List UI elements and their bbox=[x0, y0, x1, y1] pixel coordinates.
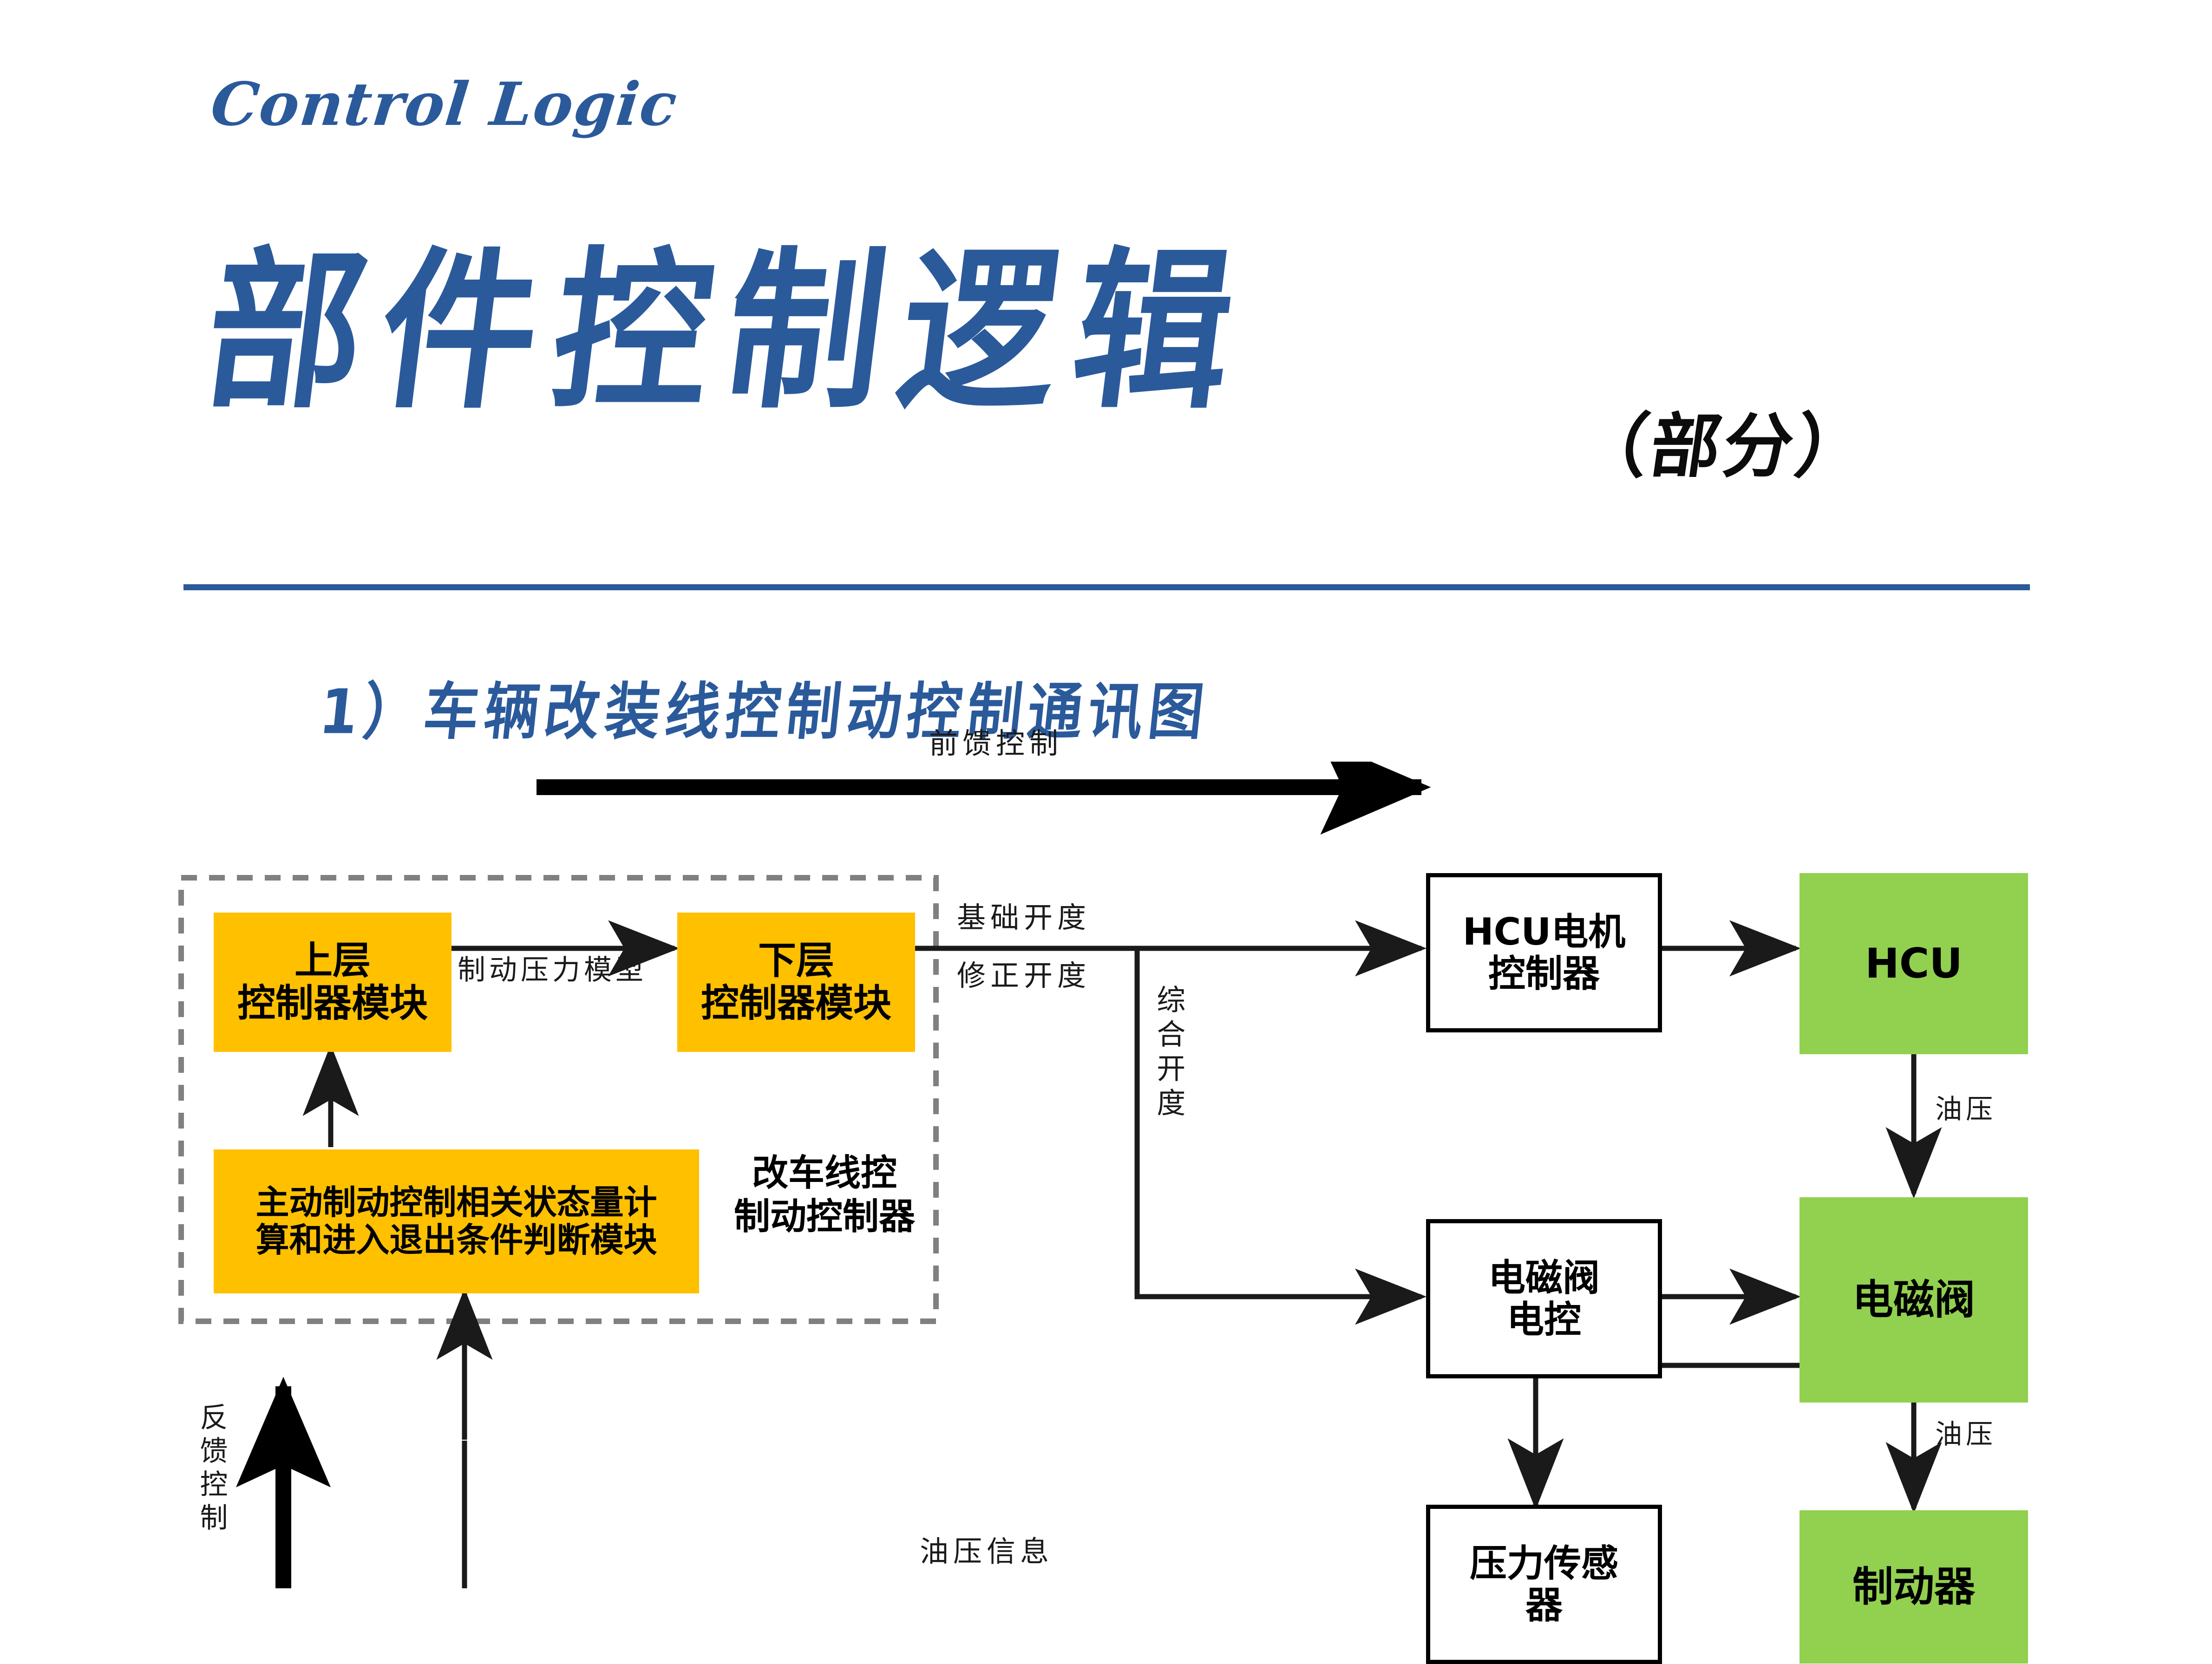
node-label-line2: 控制器模块 bbox=[237, 982, 428, 1025]
node-label-line1: 下层 bbox=[701, 940, 891, 982]
edge-label-feedforward: 前馈控制 bbox=[929, 727, 1063, 760]
edge-label-combined-opening: 综合开度 bbox=[1152, 985, 1185, 1122]
node-label-line1: 电磁阀 bbox=[1852, 1277, 1975, 1323]
control-architecture-diagram: 上层 控制器模块 下层 控制器模块 主动制动控制相关状态量计 算和进入退出条件判… bbox=[0, 762, 2212, 1588]
node-label-line2: 算和进入退出条件判断模块 bbox=[255, 1221, 657, 1259]
section-heading: 1）车辆改装线控制动控制通讯图 bbox=[316, 662, 1214, 751]
node-lower-controller[interactable]: 下层 控制器模块 bbox=[677, 913, 915, 1052]
slide-canvas: Control Logic 部件控制逻辑 （部分） 1）车辆改装线控制动控制通讯… bbox=[0, 0, 2212, 1624]
control-logic-eyebrow: Control Logic bbox=[208, 70, 681, 139]
group-label-line2: 制动控制器 bbox=[715, 1195, 934, 1239]
page-title: 部件控制逻辑 bbox=[197, 246, 1259, 418]
page-title-suffix: （部分） bbox=[1572, 390, 1877, 491]
title-divider bbox=[183, 584, 2030, 590]
node-brake[interactable]: 制动器 bbox=[1800, 1510, 2028, 1664]
edge-label-feedback: 反馈控制 bbox=[195, 1403, 227, 1536]
node-hcu-motor-controller[interactable]: HCU电机 控制器 bbox=[1426, 873, 1662, 1032]
group-label-line1: 改车线控 bbox=[715, 1152, 934, 1195]
node-label-line1: 主动制动控制相关状态量计 bbox=[255, 1184, 657, 1221]
node-label-line2: 控制器模块 bbox=[701, 982, 891, 1025]
node-label-line2: 电控 bbox=[1488, 1299, 1600, 1341]
node-pressure-sensor[interactable]: 压力传感 器 bbox=[1426, 1505, 1662, 1664]
edge-label-correction-opening: 修正开度 bbox=[957, 959, 1091, 992]
node-label-line1: HCU bbox=[1865, 941, 1963, 987]
node-label-line2: 器 bbox=[1470, 1585, 1618, 1626]
node-hcu[interactable]: HCU bbox=[1800, 873, 2028, 1054]
node-solenoid-valve[interactable]: 电磁阀 bbox=[1800, 1197, 2028, 1403]
node-label-line2: 控制器 bbox=[1463, 953, 1626, 995]
group-label: 改车线控 制动控制器 bbox=[715, 1152, 934, 1239]
node-state-calc-module[interactable]: 主动制动控制相关状态量计 算和进入退出条件判断模块 bbox=[214, 1149, 699, 1293]
node-label-line1: 制动器 bbox=[1852, 1564, 1975, 1610]
node-label-line1: 上层 bbox=[237, 940, 428, 982]
node-label-line1: 压力传感 bbox=[1470, 1543, 1618, 1585]
node-label-line1: 电磁阀 bbox=[1488, 1257, 1600, 1299]
node-label-line1: HCU电机 bbox=[1463, 911, 1626, 953]
edge-label-brake-pressure-model: 制动压力模型 bbox=[458, 954, 647, 986]
edge-label-base-opening: 基础开度 bbox=[957, 901, 1091, 934]
edge-label-oil-pressure-upper: 油压 bbox=[1935, 1094, 1996, 1125]
edge-label-oil-pressure-info: 油压信息 bbox=[920, 1535, 1054, 1568]
node-solenoid-ecu[interactable]: 电磁阀 电控 bbox=[1426, 1219, 1662, 1378]
node-upper-controller[interactable]: 上层 控制器模块 bbox=[214, 913, 452, 1052]
edge-label-oil-pressure-lower: 油压 bbox=[1935, 1419, 1996, 1450]
